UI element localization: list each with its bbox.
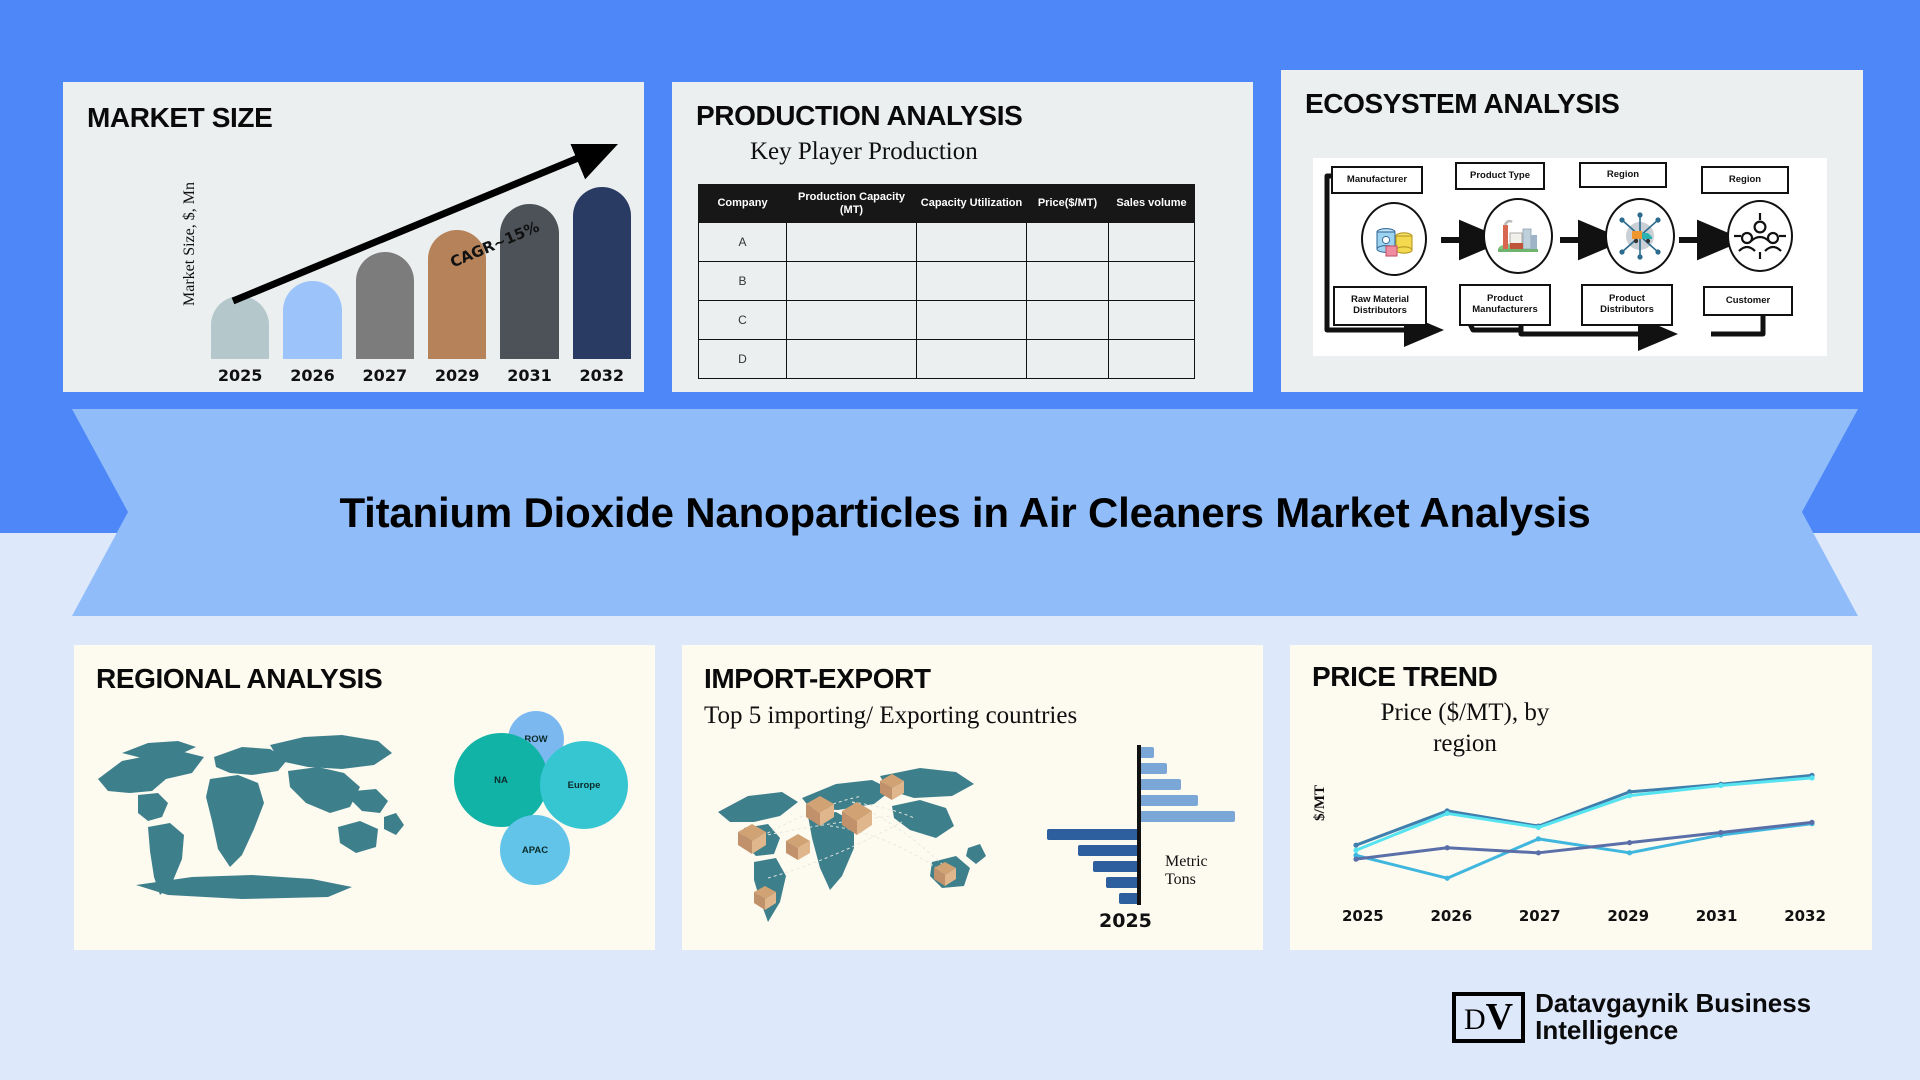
table-cell-price bbox=[1027, 223, 1109, 262]
market-size-x-tick: 2031 bbox=[500, 366, 558, 385]
logo-line-2: Intelligence bbox=[1535, 1017, 1811, 1044]
price-trend-x-axis: 202520262027202920312032 bbox=[1334, 907, 1834, 925]
price-trend-series-line bbox=[1356, 822, 1812, 859]
region-bubble-apac: APAC bbox=[500, 815, 570, 885]
price-trend-data-point bbox=[1718, 783, 1723, 788]
table-cell-utilization bbox=[917, 301, 1027, 340]
market-size-x-tick: 2032 bbox=[573, 366, 631, 385]
production-analysis-title: PRODUCTION ANALYSIS bbox=[696, 100, 1022, 132]
market-size-x-tick: 2029 bbox=[428, 366, 486, 385]
eco-box-manufacturer: Manufacturer bbox=[1331, 166, 1423, 194]
column-header-company: Company bbox=[699, 185, 787, 223]
column-header-utilization: Capacity Utilization bbox=[917, 185, 1027, 223]
ecosystem-analysis-title: ECOSYSTEM ANALYSIS bbox=[1305, 88, 1619, 120]
table-cell-company: D bbox=[699, 340, 787, 379]
production-analysis-subtitle: Key Player Production bbox=[750, 138, 978, 166]
import-export-title: IMPORT-EXPORT bbox=[704, 663, 931, 695]
regional-analysis-title: REGIONAL ANALYSIS bbox=[96, 663, 382, 695]
table-cell-price bbox=[1027, 301, 1109, 340]
distribution-network-icon bbox=[1605, 198, 1675, 274]
price-trend-data-point bbox=[1627, 850, 1632, 855]
tornado-bar-imports bbox=[1139, 747, 1154, 758]
regional-bubble-chart: ROW NA Europe APAC bbox=[454, 711, 644, 911]
table-cell-capacity bbox=[787, 262, 917, 301]
market-size-title: MARKET SIZE bbox=[87, 102, 272, 134]
eco-box-product-distributors: Product Distributors bbox=[1581, 284, 1673, 326]
price-trend-line-chart bbox=[1334, 763, 1834, 898]
price-trend-y-axis-label: $/MT bbox=[1312, 785, 1329, 821]
chemical-drums-icon bbox=[1361, 202, 1427, 276]
tornado-center-axis bbox=[1137, 745, 1141, 905]
price-trend-data-point bbox=[1445, 876, 1450, 881]
table-header-row: Company Production Capacity (MT) Capacit… bbox=[699, 185, 1195, 223]
price-trend-x-tick: 2029 bbox=[1607, 907, 1649, 925]
table-cell-company: B bbox=[699, 262, 787, 301]
logo-line-1: Datavgaynik Business bbox=[1535, 990, 1811, 1017]
table-cell-capacity bbox=[787, 340, 917, 379]
price-trend-x-tick: 2031 bbox=[1696, 907, 1738, 925]
table-cell-capacity bbox=[787, 301, 917, 340]
tornado-bar-exports bbox=[1078, 845, 1139, 856]
table-cell-utilization bbox=[917, 262, 1027, 301]
market-size-card: MARKET SIZE Market Size, $, Mn CAGR~15% … bbox=[63, 82, 644, 392]
factory-icon bbox=[1483, 198, 1553, 274]
table-body: ABCD bbox=[699, 223, 1195, 379]
key-player-production-table: Company Production Capacity (MT) Capacit… bbox=[698, 184, 1195, 379]
tornado-year-label: 2025 bbox=[1099, 910, 1152, 932]
price-trend-data-point bbox=[1353, 843, 1358, 848]
logo-letter-v: V bbox=[1486, 998, 1513, 1036]
price-trend-data-point bbox=[1353, 857, 1358, 862]
market-size-plot: CAGR~15% 202520262027202920312032 bbox=[211, 144, 631, 359]
price-trend-data-point bbox=[1536, 836, 1541, 841]
tornado-bar-imports bbox=[1139, 779, 1181, 790]
table-cell-volume bbox=[1109, 340, 1195, 379]
table-cell-capacity bbox=[787, 223, 917, 262]
price-trend-subtitle: Price ($/MT), by region bbox=[1350, 697, 1580, 760]
price-trend-data-point bbox=[1445, 811, 1450, 816]
market-size-bar-group bbox=[211, 174, 631, 359]
eco-box-product-manufacturers: Product Manufacturers bbox=[1459, 284, 1551, 326]
price-trend-data-point bbox=[1718, 830, 1723, 835]
market-size-bar bbox=[211, 296, 269, 359]
tornado-bar-imports bbox=[1139, 763, 1167, 774]
regional-analysis-card: REGIONAL ANALYSIS ROW NA Europe APAC bbox=[74, 645, 655, 950]
price-trend-data-point bbox=[1536, 850, 1541, 855]
price-trend-title: PRICE TREND bbox=[1312, 661, 1497, 693]
table-cell-price bbox=[1027, 340, 1109, 379]
eco-box-customer: Customer bbox=[1703, 286, 1793, 316]
world-map-graphic bbox=[92, 717, 422, 922]
production-analysis-card: PRODUCTION ANALYSIS Key Player Productio… bbox=[672, 82, 1253, 392]
market-size-bar bbox=[283, 281, 341, 359]
import-export-subtitle: Top 5 importing/ Exporting countries bbox=[704, 702, 1077, 730]
trade-flow-map-graphic bbox=[702, 750, 1002, 935]
tornado-bar-exports bbox=[1119, 893, 1139, 904]
table-cell-utilization bbox=[917, 340, 1027, 379]
tornado-bar-exports bbox=[1047, 829, 1139, 840]
price-trend-x-tick: 2027 bbox=[1519, 907, 1561, 925]
column-header-price: Price($/MT) bbox=[1027, 185, 1109, 223]
logo-letter-d: D bbox=[1464, 1005, 1486, 1035]
market-size-bar bbox=[356, 252, 414, 359]
price-trend-card: PRICE TREND Price ($/MT), by region $/MT… bbox=[1290, 645, 1872, 950]
company-logo: D V Datavgaynik Business Intelligence bbox=[1452, 990, 1811, 1045]
table-cell-utilization bbox=[917, 223, 1027, 262]
price-trend-x-tick: 2025 bbox=[1342, 907, 1384, 925]
main-title-banner: Titanium Dioxide Nanoparticles in Air Cl… bbox=[72, 409, 1858, 616]
region-bubble-na: NA bbox=[454, 733, 548, 827]
import-export-card: IMPORT-EXPORT Top 5 importing/ Exporting… bbox=[682, 645, 1263, 950]
price-trend-data-point bbox=[1809, 820, 1814, 825]
eco-box-product-type: Product Type bbox=[1455, 162, 1545, 190]
tornado-unit-label: Metric Tons bbox=[1165, 853, 1242, 889]
eco-box-region-2: Region bbox=[1701, 166, 1789, 194]
table-cell-company: A bbox=[699, 223, 787, 262]
page-title: Titanium Dioxide Nanoparticles in Air Cl… bbox=[339, 489, 1590, 537]
table-row: A bbox=[699, 223, 1195, 262]
price-trend-data-point bbox=[1627, 840, 1632, 845]
table-cell-volume bbox=[1109, 223, 1195, 262]
price-trend-data-point bbox=[1353, 848, 1358, 853]
column-header-capacity: Production Capacity (MT) bbox=[787, 185, 917, 223]
logo-wordmark: Datavgaynik Business Intelligence bbox=[1535, 990, 1811, 1045]
price-trend-data-point bbox=[1627, 793, 1632, 798]
table-cell-company: C bbox=[699, 301, 787, 340]
tornado-bar-exports bbox=[1093, 861, 1139, 872]
column-header-sales: Sales volume bbox=[1109, 185, 1195, 223]
tornado-bar-imports bbox=[1139, 795, 1198, 806]
tornado-bar-exports bbox=[1106, 877, 1139, 888]
table-row: C bbox=[699, 301, 1195, 340]
customer-group-icon bbox=[1727, 200, 1793, 272]
table-cell-volume bbox=[1109, 301, 1195, 340]
market-size-bar bbox=[573, 187, 631, 359]
tornado-bar-imports bbox=[1139, 811, 1235, 822]
logo-mark-dv: D V bbox=[1452, 992, 1525, 1043]
market-size-x-axis: 202520262027202920312032 bbox=[211, 366, 631, 385]
price-trend-x-tick: 2026 bbox=[1430, 907, 1472, 925]
price-trend-data-point bbox=[1809, 775, 1814, 780]
import-export-tornado-chart: Metric Tons 2025 bbox=[1037, 745, 1242, 925]
table-cell-volume bbox=[1109, 262, 1195, 301]
market-size-x-tick: 2025 bbox=[211, 366, 269, 385]
market-size-x-tick: 2027 bbox=[356, 366, 414, 385]
price-trend-data-point bbox=[1536, 825, 1541, 830]
price-trend-x-tick: 2032 bbox=[1784, 907, 1826, 925]
market-size-y-axis-label: Market Size, $, Mn bbox=[181, 182, 199, 306]
table-cell-price bbox=[1027, 262, 1109, 301]
ecosystem-flow-diagram: Manufacturer Product Type Region Region bbox=[1313, 158, 1827, 356]
table-row: B bbox=[699, 262, 1195, 301]
table-row: D bbox=[699, 340, 1195, 379]
region-bubble-europe: Europe bbox=[540, 741, 628, 829]
price-trend-data-point bbox=[1445, 845, 1450, 850]
eco-box-region-1: Region bbox=[1579, 162, 1667, 188]
ecosystem-analysis-card: ECOSYSTEM ANALYSIS Manufacturer Product … bbox=[1281, 70, 1863, 392]
eco-box-raw-material-distributors: Raw Material Distributors bbox=[1333, 286, 1427, 326]
price-trend-series-line bbox=[1356, 778, 1812, 850]
market-size-x-tick: 2026 bbox=[283, 366, 341, 385]
